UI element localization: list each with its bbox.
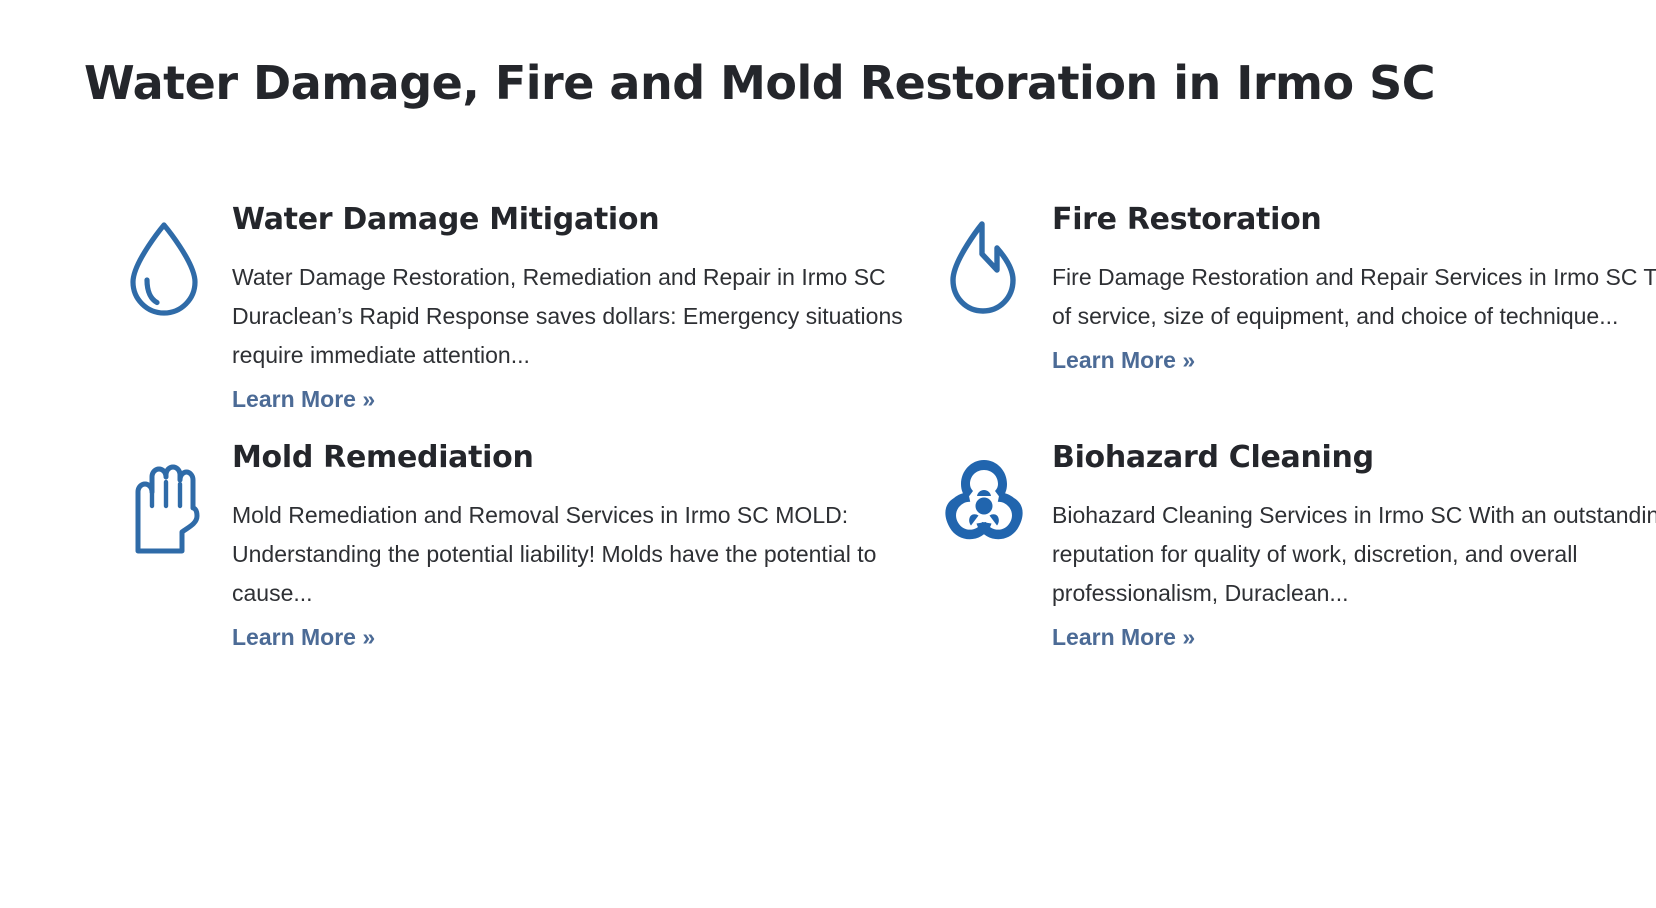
service-description: Biohazard Cleaning Services in Irmo SC W… — [1052, 496, 1656, 613]
service-description: Mold Remediation and Removal Services in… — [232, 496, 916, 613]
learn-more-link[interactable]: Learn More » — [1052, 343, 1195, 377]
card-body: Biohazard Cleaning Biohazard Cleaning Se… — [1052, 434, 1656, 654]
service-title: Water Damage Mitigation — [232, 200, 916, 240]
service-card-fire-restoration[interactable]: Fire Restoration Fire Damage Restoration… — [916, 196, 1656, 416]
glove-hand-icon — [96, 434, 232, 546]
service-description: Water Damage Restoration, Remediation an… — [232, 258, 916, 375]
biohazard-icon — [916, 434, 1052, 546]
flame-icon — [916, 196, 1052, 308]
learn-more-link[interactable]: Learn More » — [232, 382, 375, 416]
service-title: Fire Restoration — [1052, 200, 1656, 240]
card-body: Fire Restoration Fire Damage Restoration… — [1052, 196, 1656, 377]
card-body: Water Damage Mitigation Water Damage Res… — [232, 196, 916, 416]
learn-more-link[interactable]: Learn More » — [232, 620, 375, 654]
service-title: Mold Remediation — [232, 438, 916, 478]
service-card-water-damage-mitigation[interactable]: Water Damage Mitigation Water Damage Res… — [96, 196, 916, 416]
card-body: Mold Remediation Mold Remediation and Re… — [232, 434, 916, 654]
service-description: Fire Damage Restoration and Repair Servi… — [1052, 258, 1656, 336]
services-grid: Water Damage Mitigation Water Damage Res… — [0, 196, 1656, 654]
service-card-mold-remediation[interactable]: Mold Remediation Mold Remediation and Re… — [96, 434, 916, 654]
learn-more-link[interactable]: Learn More » — [1052, 620, 1195, 654]
services-page: Water Damage, Fire and Mold Restoration … — [0, 0, 1656, 908]
page-title: Water Damage, Fire and Mold Restoration … — [84, 52, 1435, 114]
water-droplet-icon — [96, 196, 232, 308]
service-title: Biohazard Cleaning — [1052, 438, 1656, 478]
service-card-biohazard-cleaning[interactable]: Biohazard Cleaning Biohazard Cleaning Se… — [916, 434, 1656, 654]
